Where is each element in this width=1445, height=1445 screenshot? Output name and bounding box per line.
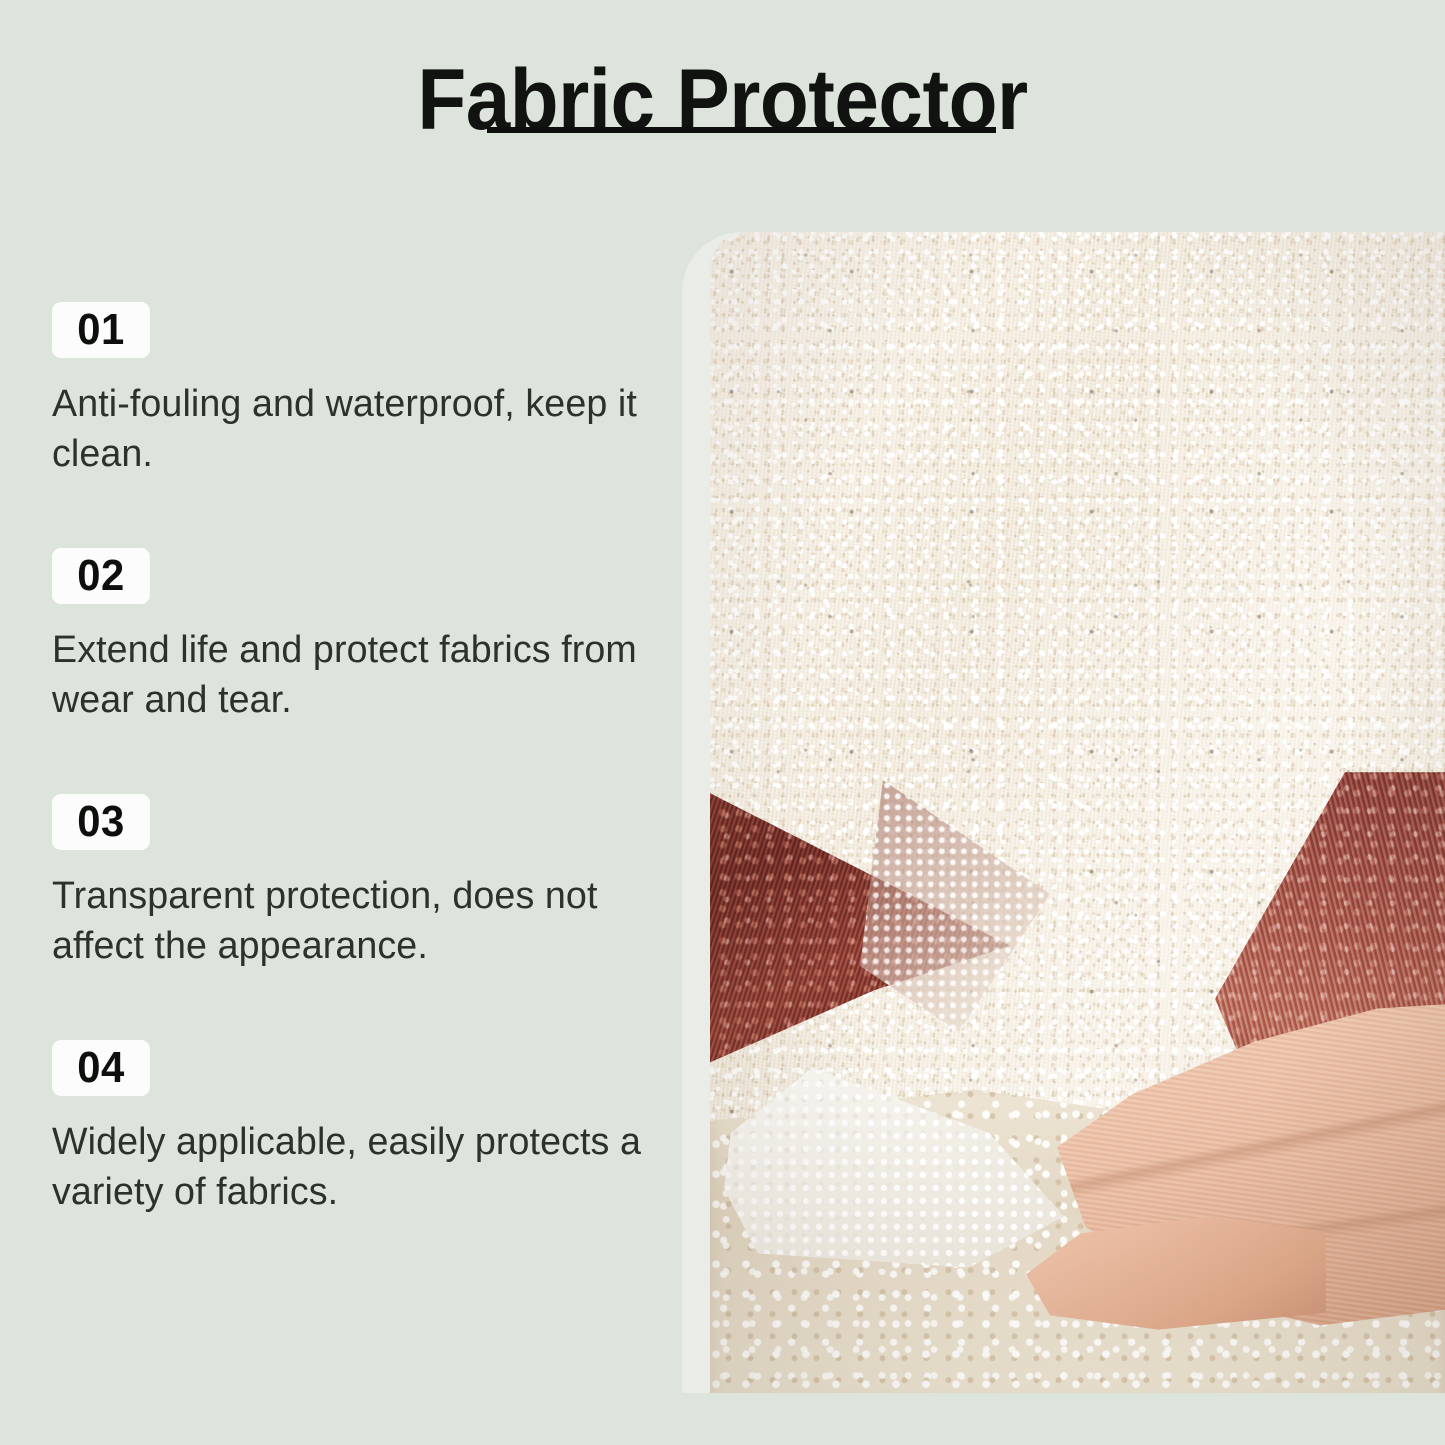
feature-number-badge-03: 03 bbox=[52, 794, 150, 850]
feature-description-01: Anti-fouling and waterproof, keep it cle… bbox=[52, 379, 656, 479]
feature-list: 01 Anti-fouling and waterproof, keep it … bbox=[0, 302, 690, 1286]
feature-number-label-02: 02 bbox=[54, 548, 147, 604]
feature-number-badge-01: 01 bbox=[52, 302, 150, 358]
page-title: Fabric Protector bbox=[51, 52, 1395, 148]
header: Fabric Protector bbox=[0, 52, 1445, 148]
feature-number-label-03: 03 bbox=[54, 794, 147, 850]
product-photo-frame bbox=[682, 232, 1445, 1393]
infographic-page: Fabric Protector 01 Anti-fouling and wat… bbox=[0, 0, 1445, 1445]
feature-item-01: 01 Anti-fouling and waterproof, keep it … bbox=[0, 302, 690, 479]
feature-description-04: Widely applicable, easily protects a var… bbox=[52, 1117, 656, 1217]
feature-description-02: Extend life and protect fabrics from wea… bbox=[52, 625, 656, 725]
feature-number-label-01: 01 bbox=[54, 302, 147, 358]
feature-number-badge-04: 04 bbox=[52, 1040, 150, 1096]
feature-number-label-04: 04 bbox=[54, 1040, 147, 1096]
feature-item-03: 03 Transparent protection, does not affe… bbox=[0, 794, 690, 971]
feature-description-03: Transparent protection, does not affect … bbox=[52, 871, 656, 971]
product-photo bbox=[710, 232, 1445, 1393]
feature-item-02: 02 Extend life and protect fabrics from … bbox=[0, 548, 690, 725]
feature-item-04: 04 Widely applicable, easily protects a … bbox=[0, 1040, 690, 1217]
title-underline-divider bbox=[487, 127, 996, 133]
feature-number-badge-02: 02 bbox=[52, 548, 150, 604]
